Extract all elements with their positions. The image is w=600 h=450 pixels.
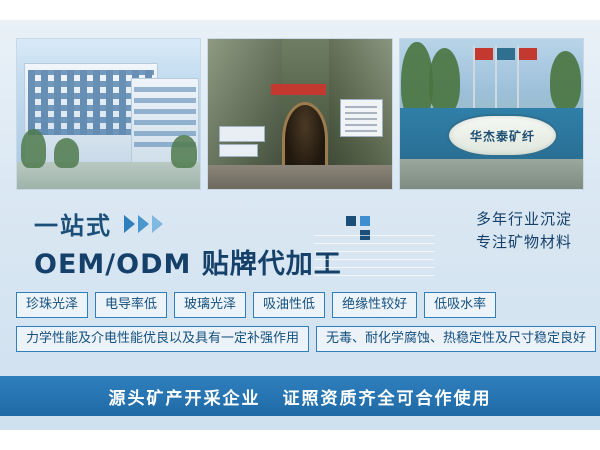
tree: [54, 138, 80, 168]
headline-primary-text: 一站式: [34, 206, 112, 241]
tree: [171, 135, 197, 168]
mine-tunnel-entrance-photo: [207, 38, 392, 190]
tree: [429, 48, 460, 114]
tree: [550, 51, 581, 111]
flag: [519, 48, 537, 60]
headline-line-1: 一站式: [34, 206, 163, 241]
slogan-line-2: 专注矿物材料: [476, 231, 572, 254]
road: [208, 165, 391, 189]
factory-building-photo: [16, 38, 201, 190]
feature-tags-row-1: 珍珠光泽 电导率低 玻璃光泽 吸油性低 绝缘性较好 低吸水率: [16, 292, 584, 318]
notice-board: [219, 144, 258, 157]
bottom-bar: 源头矿产开采企业 证照资质齐全可合作使用: [0, 376, 600, 416]
notice-board: [219, 126, 265, 142]
headline-block: 一站式 OEM/ODM 贴牌代加工 多年行业沉淀 专注矿物材料: [16, 202, 584, 284]
company-sign-text: 华杰泰矿纤: [449, 127, 555, 144]
feature-tag: 力学性能及介电性能优良以及具有一定补强作用: [16, 326, 309, 352]
feature-tag: 珍珠光泽: [16, 292, 88, 318]
headline-line-2: OEM/ODM 贴牌代加工: [34, 242, 342, 281]
bottom-bar-left-text: 源头矿产开采企业: [109, 384, 261, 409]
flag: [475, 48, 493, 60]
slogan-block: 多年行业沉淀 专注矿物材料: [476, 208, 572, 255]
bottom-bar-right-text: 证照资质齐全可合作使用: [283, 384, 492, 409]
promo-banner: 华杰泰矿纤 一站式 OEM/ODM 贴牌代加工 多年行业沉淀 专注矿物材料 珍珠…: [0, 20, 600, 430]
chevron-right-icon: [124, 215, 163, 233]
notice-board: [340, 99, 382, 137]
factory-gate-photo: 华杰泰矿纤: [399, 38, 584, 190]
feature-tag: 吸油性低: [253, 292, 325, 318]
feature-tag: 低吸水率: [424, 292, 496, 318]
photo-strip: 华杰泰矿纤: [16, 38, 584, 190]
red-banner: [271, 84, 326, 95]
flag: [497, 48, 515, 60]
feature-tag: 玻璃光泽: [174, 292, 246, 318]
feature-tag: 电导率低: [95, 292, 167, 318]
ground: [17, 162, 200, 189]
tree: [21, 129, 47, 168]
ground: [400, 159, 583, 189]
feature-tags-row-2: 力学性能及介电性能优良以及具有一定补强作用 无毒、耐化学腐蚀、热稳定性及尺寸稳定…: [16, 326, 584, 352]
slogan-line-1: 多年行业沉淀: [476, 208, 572, 231]
feature-tag: 绝缘性较好: [332, 292, 417, 318]
feature-tag: 无毒、耐化学腐蚀、热稳定性及尺寸稳定良好: [316, 326, 596, 352]
company-sign-plate: 华杰泰矿纤: [447, 114, 557, 157]
decorative-lines: [314, 232, 434, 276]
